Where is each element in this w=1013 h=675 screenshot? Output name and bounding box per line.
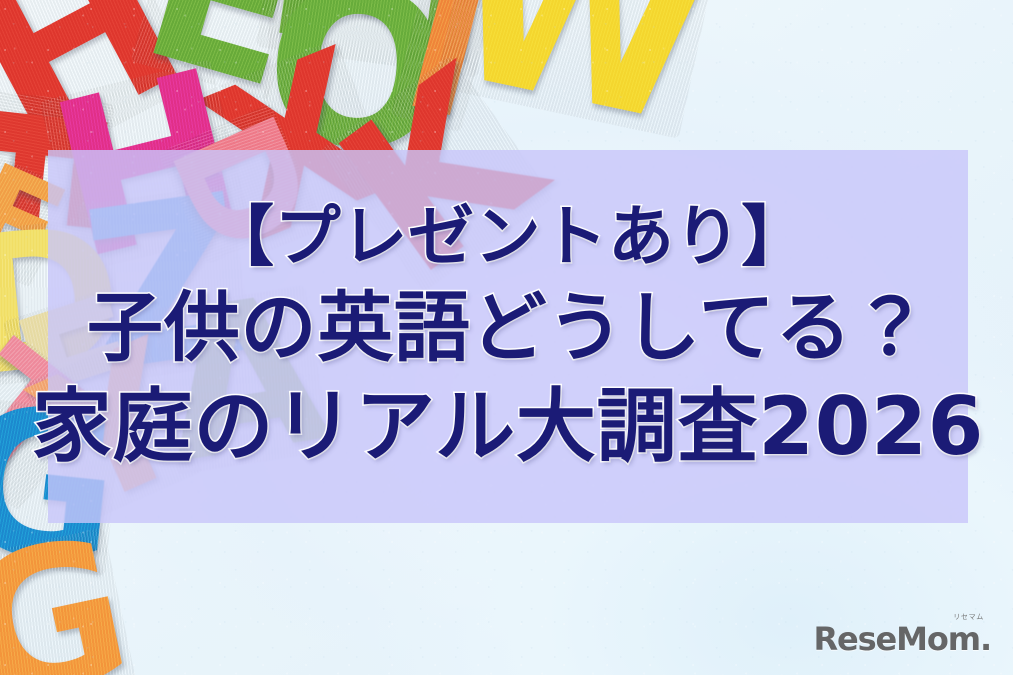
- resemom-logo-ruby: リセマム: [953, 614, 984, 621]
- article-banner: HEFEMOIWXKHZDEATYGGD 【プレゼントあり】 子供の英語どうして…: [0, 0, 1013, 675]
- resemom-wordmark: ReseMom.リセマム: [814, 623, 991, 655]
- headline-line-1: 【プレゼントあり】: [208, 197, 808, 278]
- headline-line-2: 子供の英語どうしてる？: [87, 282, 929, 375]
- headline-line-3: 家庭のリアル大調査2026: [32, 378, 984, 476]
- resemom-logo[interactable]: ReseMom.リセマム: [814, 623, 991, 655]
- headline-block: 【プレゼントあり】 子供の英語どうしてる？ 家庭のリアル大調査2026: [48, 150, 968, 523]
